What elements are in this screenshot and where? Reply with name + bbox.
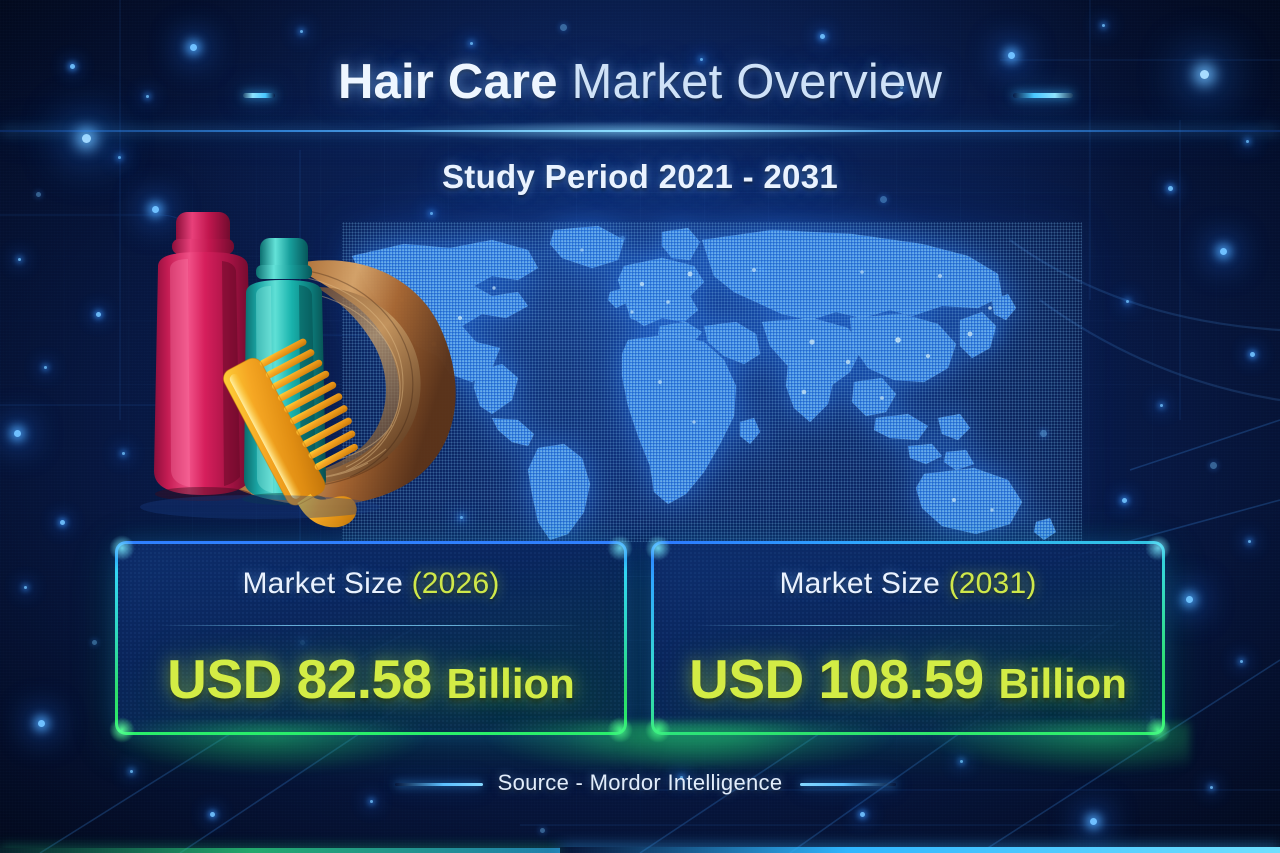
card-year: (2026)	[412, 567, 500, 600]
card-value-amount: USD 108.59	[689, 648, 998, 710]
card-value: USD 82.58 Billion	[117, 647, 625, 711]
market-size-card-2031[interactable]: Market Size (2031) USD 108.59 Billion	[653, 543, 1163, 733]
card-value-unit: Billion	[447, 660, 575, 707]
page-title-light: Market Overview	[558, 55, 942, 109]
card-label: Market Size (2026)	[117, 567, 625, 601]
title-divider	[0, 130, 1280, 132]
card-year: (2031)	[949, 567, 1037, 600]
study-period-label: Study Period 2021 - 2031	[0, 158, 1280, 196]
corner-glow-bottom-left	[109, 717, 135, 743]
card-value: USD 108.59 Billion	[653, 647, 1163, 711]
card-separator	[159, 625, 583, 626]
bottom-rim-left	[0, 848, 560, 853]
card-label-text: Market Size	[779, 567, 948, 600]
card-separator	[695, 625, 1121, 626]
corner-glow-top-left	[109, 535, 135, 561]
corner-glow-bottom-left	[645, 717, 671, 743]
corner-glow-top-right	[1145, 535, 1171, 561]
card-value-unit: Billion	[999, 660, 1127, 707]
corner-glow-bottom-right	[607, 717, 633, 743]
corner-glow-bottom-right	[1145, 717, 1171, 743]
source-attribution: Source - Mordor Intelligence	[0, 770, 1280, 796]
market-size-card-2026[interactable]: Market Size (2026) USD 82.58 Billion	[117, 543, 625, 733]
card-label: Market Size (2031)	[653, 567, 1163, 601]
infographic-canvas: Hair Care Market Overview Study Period 2…	[0, 0, 1280, 853]
card-label-text: Market Size	[242, 567, 411, 600]
card-value-amount: USD 82.58	[167, 648, 446, 710]
bottom-rim-right	[560, 847, 1280, 853]
page-title: Hair Care Market Overview	[0, 56, 1280, 110]
hair-care-product-illustration	[140, 195, 560, 525]
page-title-bold: Hair Care	[338, 55, 558, 109]
shampoo-bottle-pink-icon	[154, 212, 252, 501]
